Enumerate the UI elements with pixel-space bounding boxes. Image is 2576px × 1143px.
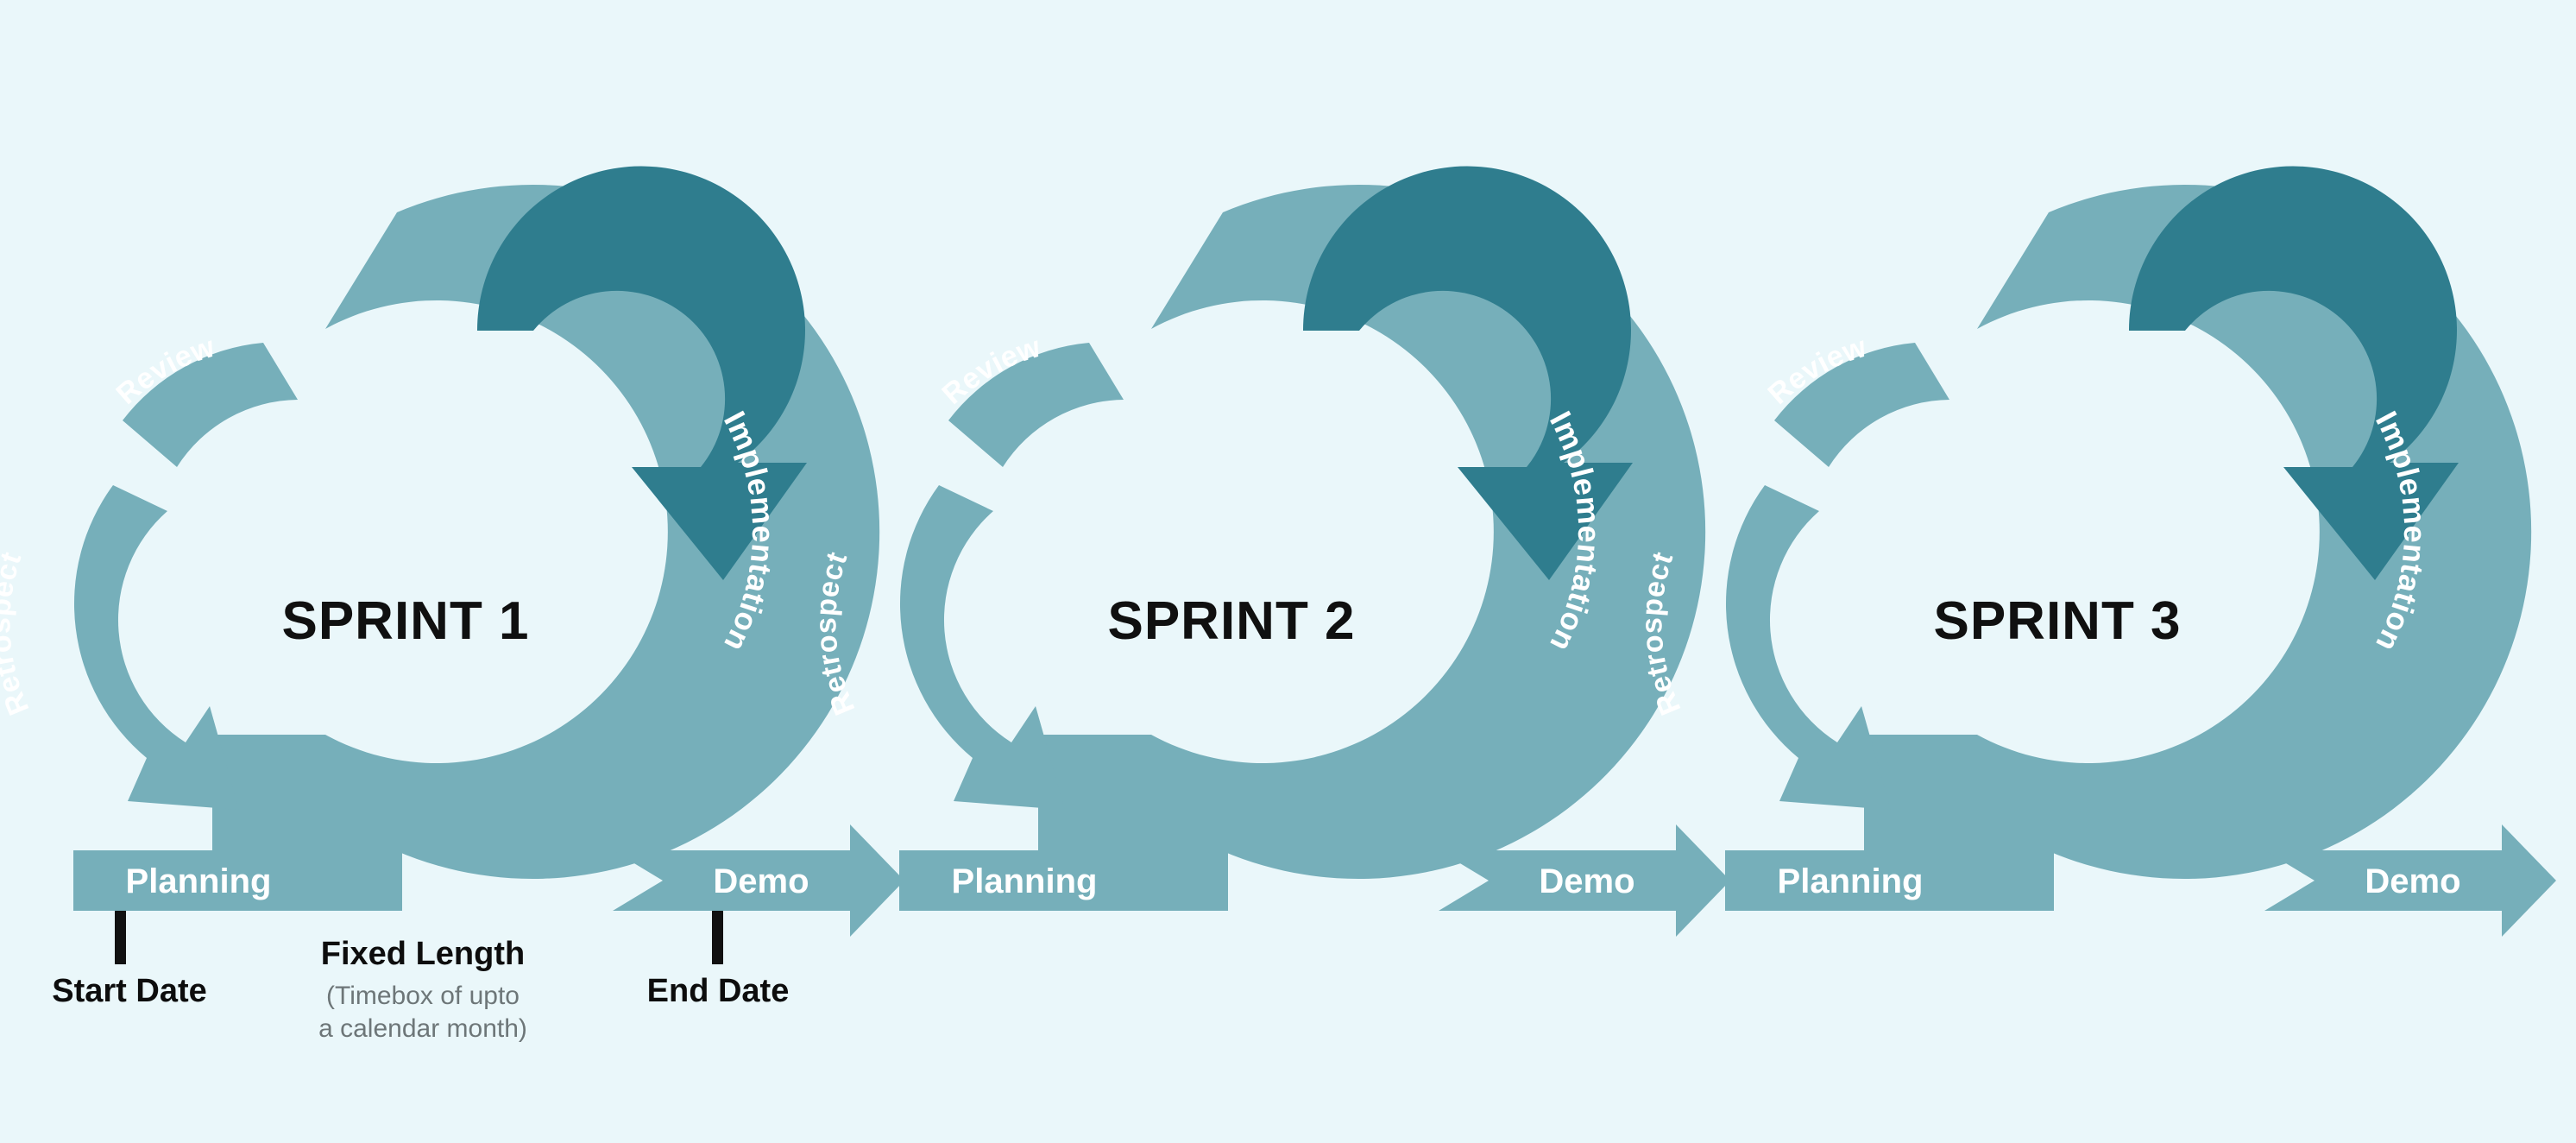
sprint-group-1: Review Retrospect Implementation SPRINT … <box>0 167 904 937</box>
annotations: Start Date Fixed Length (Timebox of upto… <box>52 911 789 1043</box>
demo-label: Demo <box>713 862 809 900</box>
planning-chip-2[interactable]: Planning <box>899 850 1149 911</box>
planning-chip-1[interactable]: Planning <box>73 850 324 911</box>
sprint-group-2: Review Retrospect Implementation SPRINT … <box>809 167 1730 937</box>
start-date-label: Start Date <box>52 973 207 1009</box>
review-arc-3: Review <box>1762 331 1949 467</box>
sprint-cycle-diagram: Review Retrospect Implementation SPRINT … <box>0 0 2576 1143</box>
end-date-label: End Date <box>647 973 790 1009</box>
planning-label: Planning <box>952 862 1098 900</box>
diagram-canvas: Review Retrospect Implementation SPRINT … <box>0 0 2576 1143</box>
review-arc-1: Review <box>110 331 298 467</box>
planning-label: Planning <box>1778 862 1924 900</box>
retrospect-arc-1: Retrospect <box>0 485 239 810</box>
planning-chip-3[interactable]: Planning <box>1725 850 1975 911</box>
fixed-length-label: Fixed Length <box>321 936 525 972</box>
sprint-title: SPRINT 1 <box>281 591 529 651</box>
end-date-tick <box>712 911 723 964</box>
sprint-group-3: Review Retrospect Implementation SPRINT … <box>1635 167 2556 937</box>
fixed-length-note-line-1: (Timebox of upto <box>326 982 520 1010</box>
demo-label: Demo <box>2365 862 2460 900</box>
fixed-length-note-line-2: a calendar month) <box>318 1014 527 1043</box>
sprint-title: SPRINT 3 <box>1933 591 2181 651</box>
review-arc-2: Review <box>936 331 1124 467</box>
retrospect-label: Retrospect <box>0 548 35 720</box>
planning-label: Planning <box>126 862 272 900</box>
sprint-title: SPRINT 2 <box>1107 591 1355 651</box>
demo-label: Demo <box>1539 862 1634 900</box>
start-date-tick <box>115 911 126 964</box>
